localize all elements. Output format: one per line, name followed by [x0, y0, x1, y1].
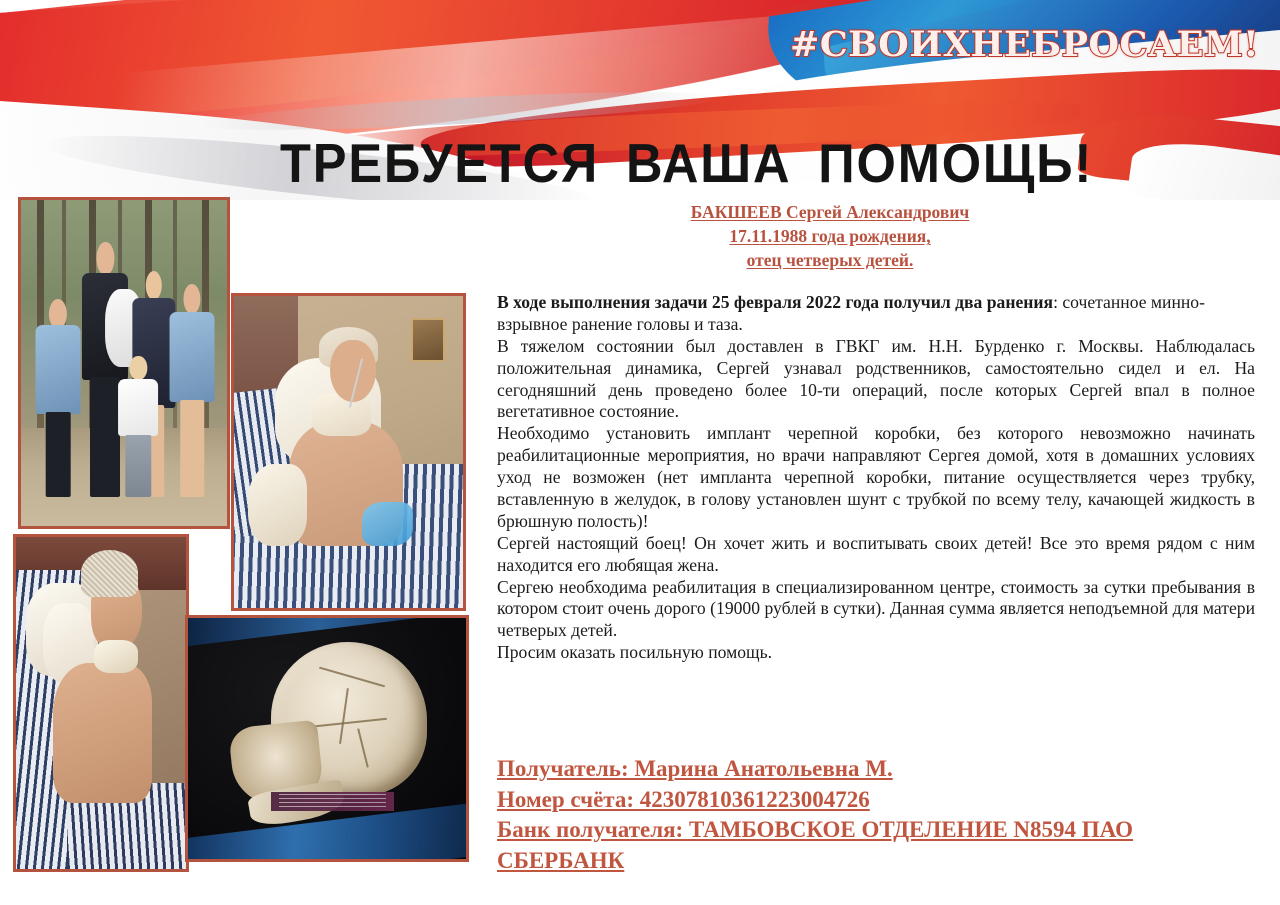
figure-denim-jacket [169, 312, 214, 402]
cranial-suture-line [319, 667, 385, 688]
cranial-suture-line [357, 729, 369, 768]
story-paragraph-4: Сергею необходима реабилитация в специал… [497, 577, 1255, 643]
wall-icon-frame [411, 318, 445, 363]
figure-head [183, 284, 200, 314]
mesh-head-cap [81, 550, 139, 596]
story-text-block: В ходе выполнения задачи 25 февраля 2022… [497, 292, 1255, 664]
beneficiary-family: отец четверых детей. [590, 248, 1070, 272]
payment-details-block: Получатель: Марина Анатольевна М. Номер … [497, 754, 1257, 876]
patient-torso [53, 663, 152, 802]
person-figure-daughter-left [31, 295, 85, 497]
hashtag-slogan: #СВОИХНЕБРОСАЕМ! [790, 24, 1259, 65]
figure-denim-jacket [36, 325, 81, 414]
figure-head [146, 271, 162, 301]
figure-legs [46, 412, 71, 497]
page-title: ТРЕБУЕТСЯ ВАША ПОМОЩЬ! [280, 131, 1093, 195]
figure-head [97, 242, 114, 275]
beneficiary-name: БАКШЕЕВ Сергей Александрович [590, 200, 1070, 224]
beneficiary-birthdate: 17.11.1988 года рождения, [590, 224, 1070, 248]
blue-medical-glove [362, 502, 412, 546]
figure-legs [180, 400, 204, 497]
hospital-photo-1 [231, 293, 466, 611]
cranial-suture-line [306, 718, 387, 728]
scan-annotation-overlay [271, 792, 393, 811]
story-paragraph-2: Необходимо установить имплант черепной к… [497, 423, 1255, 532]
family-photo [18, 197, 230, 529]
figure-legs [126, 435, 151, 497]
story-lead-bold: В ходе выполнения задачи 25 февраля 2022… [497, 292, 1053, 312]
person-figure-daughter-right [165, 282, 219, 497]
scan-annotation-text-lines [279, 794, 387, 808]
payment-bank-name: Банк получателя: ТАМБОВСКОЕ ОТДЕЛЕНИЕ N8… [497, 815, 1257, 876]
story-lead-paragraph: В ходе выполнения задачи 25 февраля 2022… [497, 292, 1255, 336]
story-paragraph-5: Просим оказать посильную помощь. [497, 642, 1255, 664]
beneficiary-identity-block: БАКШЕЕВ Сергей Александрович 17.11.1988 … [590, 200, 1070, 272]
cranial-suture-line [339, 688, 349, 743]
payment-account-number: Номер счёта: 42307810361223004726 [497, 785, 1257, 816]
tracheostomy-dressing [94, 640, 138, 673]
figure-white-top [118, 379, 158, 436]
story-paragraph-3: Сергей настоящий боец! Он хочет жить и в… [497, 533, 1255, 577]
hospital-photo-2 [13, 534, 189, 872]
person-figure-small-child [116, 353, 161, 496]
figure-head [130, 356, 147, 380]
payment-recipient: Получатель: Марина Анатольевна М. [497, 754, 1257, 785]
ct-scan-photo [185, 615, 469, 862]
charity-appeal-poster: #СВОИХНЕБРОСАЕМ! ТРЕБУЕТСЯ ВАША ПОМОЩЬ! … [0, 0, 1280, 905]
story-paragraph-1: В тяжелом состоянии был доставлен в ГВКГ… [497, 336, 1255, 424]
arm-bandage [248, 464, 308, 545]
